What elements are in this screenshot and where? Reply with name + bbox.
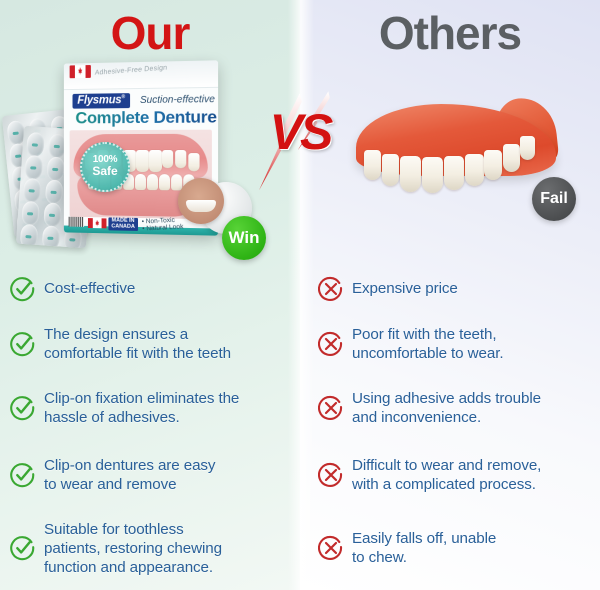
list-item: Expensive price [318,276,600,302]
list-item-label: Clip-on fixation eliminates thehassle of… [44,389,239,427]
tooth-upper [188,153,199,171]
check-circle-icon [10,462,36,488]
veneer-tooth [465,154,484,186]
tooth-upper [136,150,149,172]
veneer-tooth [484,150,502,180]
barcode-icon [69,217,84,227]
header-others: Others [300,2,600,64]
check-circle-icon [10,395,36,421]
list-item: Easily falls off, unableto chew. [318,529,600,567]
tooth-upper [162,150,173,168]
blister-cell-tooth [30,166,36,169]
list-item: Suitable for toothlesspatients, restorin… [10,520,295,577]
list-item-label: Expensive price [352,279,458,298]
pros-list: Cost-effectiveThe design ensures acomfor… [0,264,300,590]
list-item: The design ensures acomfortable fit with… [10,325,295,363]
vs-label: VS [252,103,348,161]
veneer-tooth [364,150,381,180]
canada-flag-small-icon [88,218,106,228]
blister-cell-tooth [32,143,38,146]
check-circle-icon [10,331,36,357]
seal-safe: Safe [82,164,128,178]
blister-cell-tooth [52,168,58,171]
veneer-tooth [422,157,443,193]
tooth-upper [149,150,162,172]
list-item-label: Cost-effective [44,279,135,298]
veneer-tooth [382,154,399,186]
brand-name: Flysmus [77,94,121,106]
list-item-label: The design ensures acomfortable fit with… [44,325,231,363]
tooth-lower [135,174,146,190]
cons-list: Expensive pricePoor fit with the teeth,u… [300,264,600,590]
box-top-face: Adhesive-Free Design [64,60,218,90]
tooth-lower [159,174,170,190]
box-features: • Non-Toxic • Natural Look [142,216,184,232]
header-our: Our [0,2,300,64]
list-item: Difficult to wear and remove,with a comp… [318,456,600,494]
list-item: Cost-effective [10,276,295,302]
list-item: Poor fit with the teeth,uncomfortable to… [318,325,600,363]
safety-seal-badge: 100% Safe [80,142,130,192]
blister-cell-tooth [69,238,75,241]
x-circle-icon [318,535,344,561]
vs-graphic: VS [252,95,348,190]
veneer-tooth [400,156,421,192]
blister-cell-tooth [54,145,60,148]
box-tagline: Suction-effective [140,94,215,106]
box-top-banner: Adhesive-Free Design [95,64,168,76]
list-item-label: Suitable for toothlesspatients, restorin… [44,520,222,577]
list-item-label: Difficult to wear and remove,with a comp… [352,456,541,494]
win-badge: Win [222,216,266,260]
blister-cell-tooth [49,214,55,217]
check-circle-icon [10,535,36,561]
feature-2: • Natural Look [142,223,184,232]
box-title: Complete Denture [75,107,216,128]
made-in-badge: MADE IN CANADA [108,217,137,231]
tooth-lower [147,174,158,190]
blister-cell-tooth [25,235,31,238]
smile-photo-inset [178,178,224,224]
fail-badge: Fail [532,177,576,221]
canada-flag-icon [70,65,91,78]
veneer-tooth [503,144,520,172]
veneer-tooth [444,156,464,190]
blister-cell-tooth [51,191,57,194]
brand-trademark: ® [121,94,124,100]
check-circle-icon [10,276,36,302]
list-item-label: Easily falls off, unableto chew. [352,529,496,567]
denture-teeth [70,130,212,131]
list-item: Using adhesive adds troubleand inconveni… [318,389,600,427]
brand-label: Flysmus® [73,93,130,109]
list-item-label: Poor fit with the teeth,uncomfortable to… [352,325,503,363]
x-circle-icon [318,462,344,488]
x-circle-icon [318,331,344,357]
comparison-infographic: Our Others Adhesive-Free Design Flysmus®… [0,0,600,590]
blister-cell-tooth [29,189,35,192]
list-item-label: Using adhesive adds troubleand inconveni… [352,389,541,427]
tooth-upper [175,150,186,168]
made-in-line2: CANADA [111,223,135,229]
blister-cell-tooth [47,237,53,240]
list-item: Clip-on fixation eliminates thehassle of… [10,389,295,427]
list-item: Clip-on dentures are easyto wear and rem… [10,456,295,494]
blister-cell-tooth [27,212,33,215]
x-circle-icon [318,395,344,421]
veneer-tooth [520,136,535,160]
competitor-veneer [356,104,556,208]
list-item-label: Clip-on dentures are easyto wear and rem… [44,456,215,494]
x-circle-icon [318,276,344,302]
